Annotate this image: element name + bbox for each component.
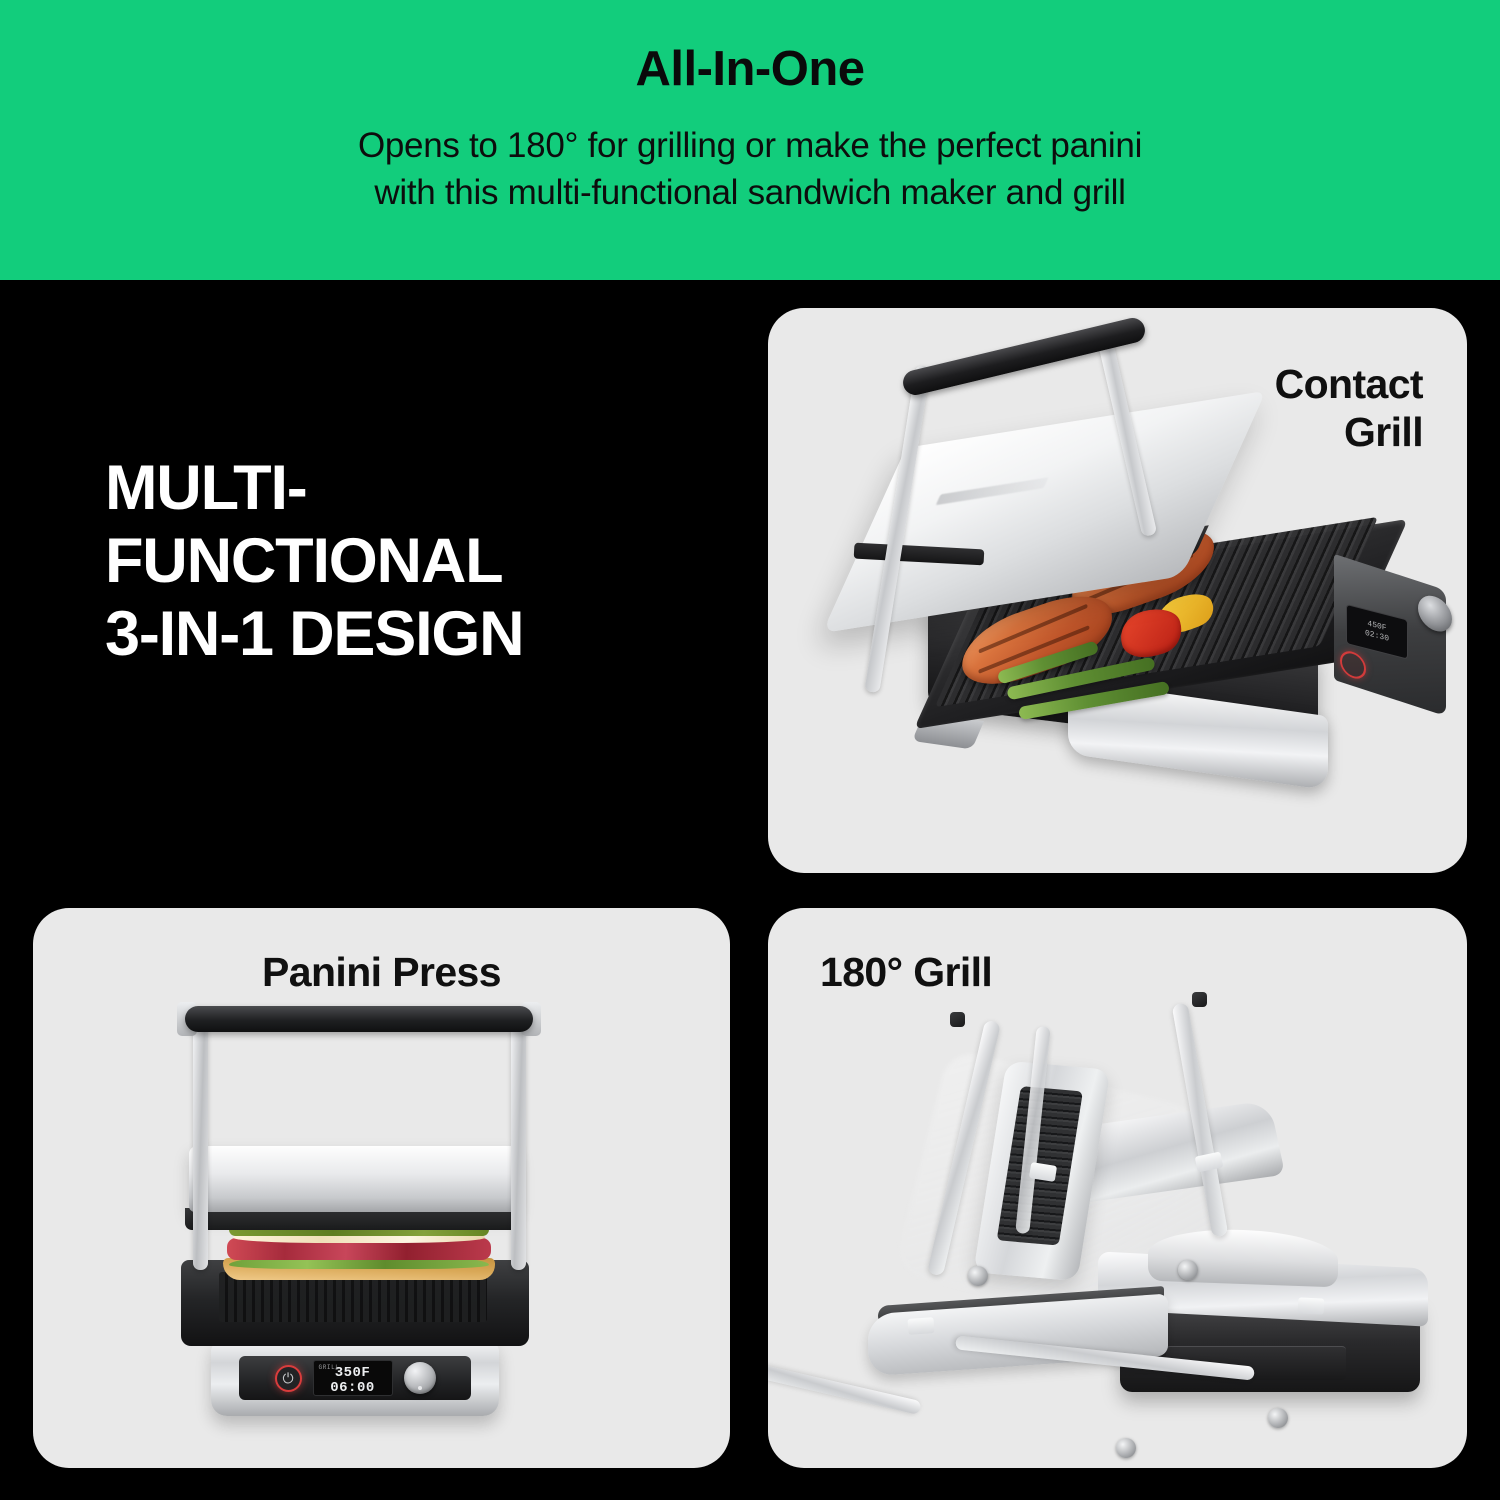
press-base-body: GRILL 350F 06:00 xyxy=(211,1340,499,1416)
pivot-bolt xyxy=(968,1266,988,1286)
lcd-display: 450F 02:30 xyxy=(1346,604,1408,660)
lcd-temperature: 350F xyxy=(335,1366,371,1381)
lcd-mode-label: GRILL xyxy=(319,1364,340,1371)
plate-clip xyxy=(1298,1297,1325,1314)
grill-180-card: 180° Grill xyxy=(768,908,1467,1468)
control-knob[interactable] xyxy=(404,1362,436,1394)
power-button-icon[interactable] xyxy=(1340,648,1366,682)
feature-headline: MULTI- FUNCTIONAL 3-IN-1 DESIGN xyxy=(105,452,725,671)
contact-grill-label-line-1: Contact xyxy=(1275,360,1423,408)
feature-headline-line-3: 3-IN-1 DESIGN xyxy=(105,598,725,671)
grill-control-panel: 450F 02:30 xyxy=(1334,554,1446,716)
press-post-left xyxy=(193,1018,208,1270)
press-top-plate xyxy=(189,1146,519,1212)
press-control-panel: GRILL 350F 06:00 xyxy=(239,1356,471,1400)
contact-grill-card: Contact Grill 450F 02:30 xyxy=(768,308,1467,873)
power-button-icon[interactable] xyxy=(275,1365,302,1392)
press-handle[interactable] xyxy=(185,1006,533,1032)
temperature-knob[interactable] xyxy=(1418,591,1452,636)
banner-subtitle-line-2: with this multi-functional sandwich make… xyxy=(358,170,1142,217)
arm-end-cap xyxy=(950,1012,965,1027)
banner-subtitle-line-1: Opens to 180° for grilling or make the p… xyxy=(358,123,1142,170)
plate-clip xyxy=(907,1317,934,1335)
pivot-bolt xyxy=(1116,1438,1136,1458)
panini-press-label: Panini Press xyxy=(33,948,730,996)
arm-end-cap xyxy=(1192,992,1207,1007)
feature-headline-line-1: MULTI- xyxy=(105,452,725,525)
header-banner: All-In-One Opens to 180° for grilling or… xyxy=(0,0,1500,280)
lcd-timer: 06:00 xyxy=(330,1381,375,1396)
brand-emboss-logo xyxy=(936,477,1049,505)
contact-grill-label-line-2: Grill xyxy=(1275,408,1423,456)
contact-grill-label: Contact Grill xyxy=(1275,360,1423,457)
grill-hinge-dome xyxy=(1148,1227,1338,1288)
grill-180-label: 180° Grill xyxy=(820,948,992,996)
pivot-bolt xyxy=(1268,1408,1288,1428)
banner-title: All-In-One xyxy=(635,44,864,95)
feature-headline-line-2: FUNCTIONAL xyxy=(105,525,725,598)
pivot-bolt xyxy=(1178,1260,1198,1280)
panini-press-card: Panini Press GRILL 350F 06:00 xyxy=(33,908,730,1468)
lcd-display: GRILL 350F 06:00 xyxy=(313,1360,393,1396)
press-post-right xyxy=(511,1018,526,1270)
banner-subtitle: Opens to 180° for grilling or make the p… xyxy=(358,123,1142,216)
